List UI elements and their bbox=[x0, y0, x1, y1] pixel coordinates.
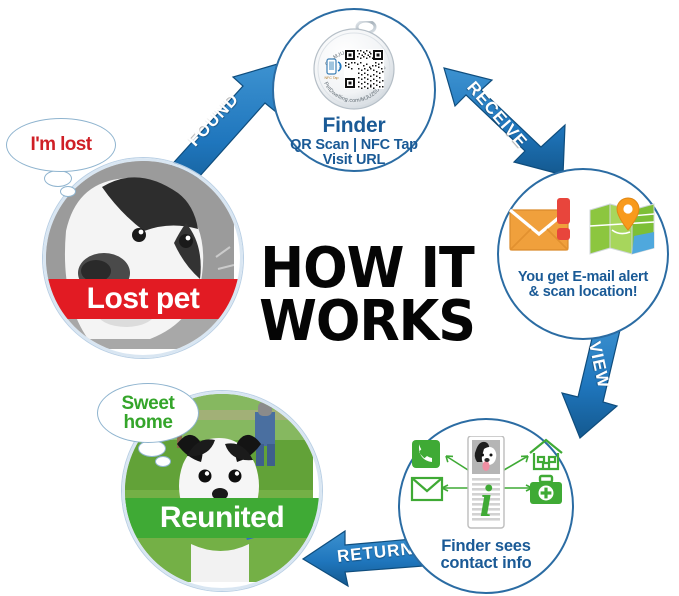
arrow-label-view: VIEW bbox=[584, 340, 613, 391]
finder-subtitle-line-2: Visit URL bbox=[290, 153, 418, 168]
infographic-canvas: FOUND RECEIVE VIEW RETURN HOW IT WORKS bbox=[0, 0, 679, 596]
contact-caption-line-1: Finder sees bbox=[440, 538, 531, 555]
svg-text:NFC Tap: NFC Tap bbox=[324, 76, 338, 80]
lost-pet-band: Lost pet bbox=[43, 279, 243, 319]
map-pin-icon bbox=[588, 196, 658, 258]
finder-subtitle-line-1: QR Scan | NFC Tap bbox=[290, 138, 418, 153]
qr-code-icon bbox=[344, 49, 384, 89]
arrow-label-return: RETURN bbox=[336, 539, 415, 567]
lost-bubble-dot-small bbox=[60, 186, 76, 197]
node-email-alert[interactable]: You get E-mail alert & scan location! bbox=[497, 168, 669, 340]
contact-node-caption: Finder sees contact info bbox=[440, 538, 531, 573]
mail-icon bbox=[412, 478, 442, 500]
arrow-label-receive: RECEIVE bbox=[462, 78, 531, 153]
home-bubble-line-1: Sweet bbox=[122, 394, 175, 413]
envelope-alert-icon bbox=[508, 196, 580, 258]
arrow-label-found: FOUND bbox=[184, 89, 243, 151]
reunited-band: Reunited bbox=[122, 498, 322, 538]
email-caption-line-2: & scan location! bbox=[518, 285, 648, 300]
contact-caption-line-2: contact info bbox=[440, 555, 531, 572]
email-node-caption: You get E-mail alert & scan location! bbox=[518, 270, 648, 300]
title-line-2: WORKS bbox=[247, 296, 486, 349]
home-bubble-line-2: home bbox=[122, 413, 175, 432]
svg-text:i: i bbox=[480, 475, 493, 526]
home-bubble-dot-small bbox=[155, 456, 171, 467]
home-icon bbox=[530, 440, 562, 469]
medical-kit-icon bbox=[530, 476, 562, 504]
reunited-thought-bubble: Sweet home bbox=[97, 383, 199, 443]
lost-bubble-dot-large bbox=[44, 170, 72, 187]
email-caption-line-1: You get E-mail alert bbox=[518, 270, 648, 285]
alert-exclamation-icon bbox=[557, 198, 570, 240]
phone-icon bbox=[412, 440, 440, 468]
email-node-icons bbox=[508, 196, 658, 260]
qr-tag-graphic: QR-MJU25U11 / Activation QTY-xxx-QR PetD… bbox=[308, 21, 400, 113]
lost-thought-bubble: I'm lost bbox=[6, 118, 116, 172]
page-title: HOW IT WORKS bbox=[247, 243, 486, 348]
finder-title: Finder bbox=[323, 115, 386, 137]
node-finder[interactable]: QR-MJU25U11 / Activation QTY-xxx-QR PetD… bbox=[272, 8, 436, 172]
qr-tag-icon: QR-MJU25U11 / Activation QTY-xxx-QR PetD… bbox=[308, 21, 400, 113]
finder-subtitle: QR Scan | NFC Tap Visit URL bbox=[290, 138, 418, 168]
node-contact-info[interactable]: i Finder sees contact info bbox=[398, 418, 574, 594]
arrow-receive bbox=[444, 68, 565, 175]
title-line-1: HOW IT bbox=[247, 243, 486, 296]
contact-info-graphic: i bbox=[406, 436, 566, 532]
info-document-icon: i bbox=[468, 436, 504, 528]
